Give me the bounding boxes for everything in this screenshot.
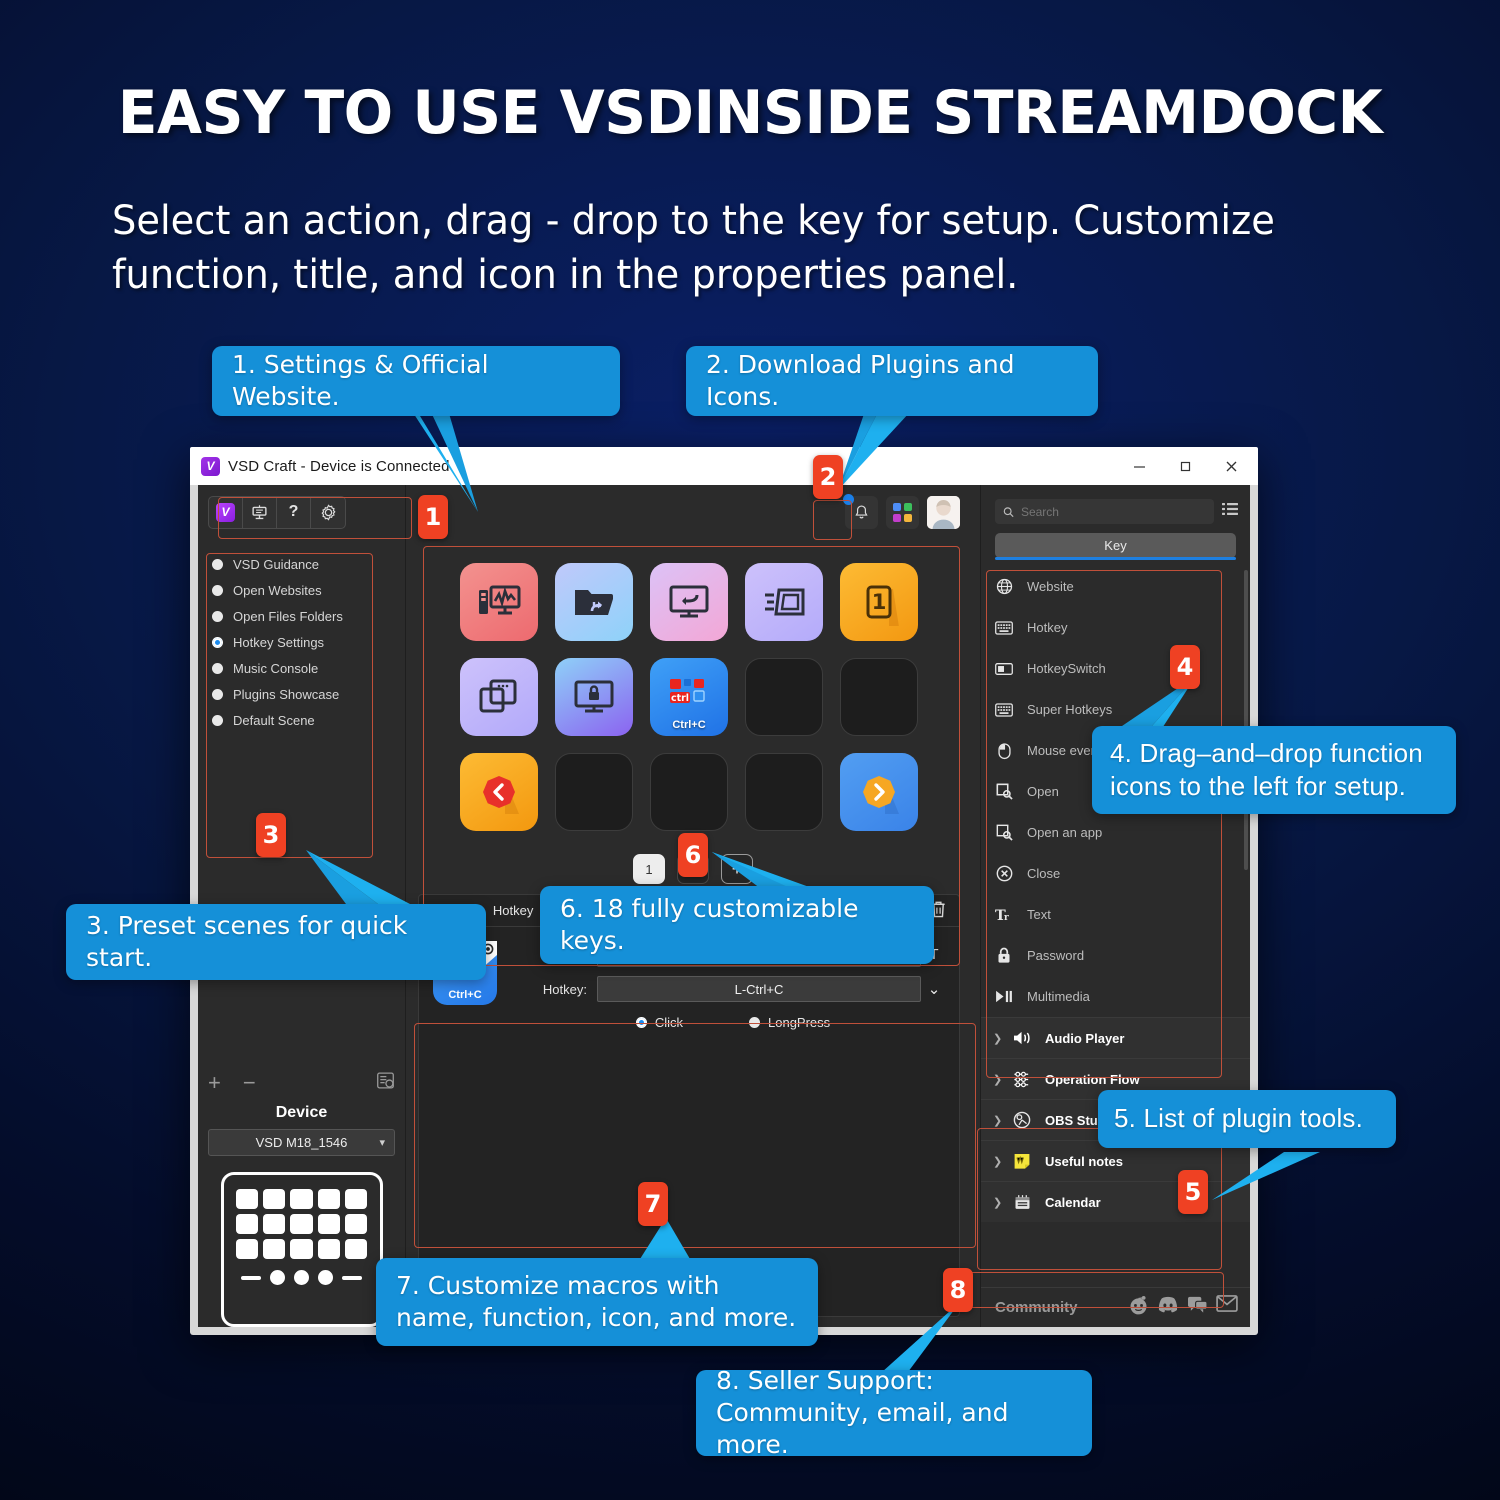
callout-7: 7. Customize macros with name, function,… xyxy=(376,1258,818,1346)
callout-5: 5. List of plugin tools. xyxy=(1098,1090,1396,1148)
badge-4: 4 xyxy=(1170,645,1200,689)
callout-6: 6. 18 fully customizable keys. xyxy=(540,886,934,964)
badge-8: 8 xyxy=(943,1268,973,1312)
callout-2: 2. Download Plugins and Icons. xyxy=(686,346,1098,416)
badge-7: 7 xyxy=(638,1182,668,1226)
callout-4: 4. Drag–and–drop function icons to the l… xyxy=(1092,726,1456,814)
badge-6: 6 xyxy=(678,833,708,877)
badge-5: 5 xyxy=(1178,1170,1208,1214)
callout-3: 3. Preset scenes for quick start. xyxy=(66,904,486,980)
callout-8: 8. Seller Support: Community, email, and… xyxy=(696,1370,1092,1456)
badge-1: 1 xyxy=(418,495,448,539)
callout-1: 1. Settings & Official Website. xyxy=(212,346,620,416)
badge-2: 2 xyxy=(813,455,843,499)
badge-3: 3 xyxy=(256,813,286,857)
